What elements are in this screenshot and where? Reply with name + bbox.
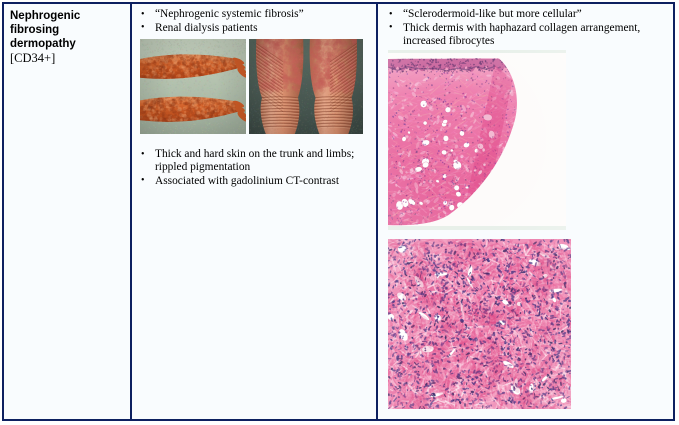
clinical-photo-legs: [249, 39, 363, 134]
list-item: Thick and hard skin on the trunk and lim…: [138, 148, 370, 174]
immunostain-marker: [CD34+]: [10, 51, 55, 66]
clinical-bullets-bottom: Thick and hard skin on the trunk and lim…: [138, 148, 370, 189]
histology-low-power: [388, 50, 566, 230]
diagnosis-title: Nephrogenic fibrosing dermopathy: [10, 9, 122, 52]
list-item: Renal dialysis patients: [138, 22, 366, 35]
list-item: Thick dermis with haphazard collagen arr…: [386, 22, 674, 48]
clinical-features-cell: “Nephrogenic systemic fibrosis” Renal di…: [130, 4, 376, 419]
histology-bullets: “Sclerodermoid-like but more cellular” T…: [386, 8, 674, 49]
histology-cell: “Sclerodermoid-like but more cellular” T…: [376, 4, 673, 419]
list-item: “Sclerodermoid-like but more cellular”: [386, 8, 674, 21]
clinical-bullets-top: “Nephrogenic systemic fibrosis” Renal di…: [138, 8, 366, 35]
diagnosis-cell: Nephrogenic fibrosing dermopathy [CD34+]: [4, 4, 130, 419]
clinical-photo-arms: [140, 39, 246, 134]
list-item: “Nephrogenic systemic fibrosis”: [138, 8, 366, 21]
comparison-table: Nephrogenic fibrosing dermopathy [CD34+]…: [2, 2, 675, 421]
list-item: Associated with gadolinium CT-contrast: [138, 175, 370, 188]
histology-high-power: [388, 239, 571, 409]
